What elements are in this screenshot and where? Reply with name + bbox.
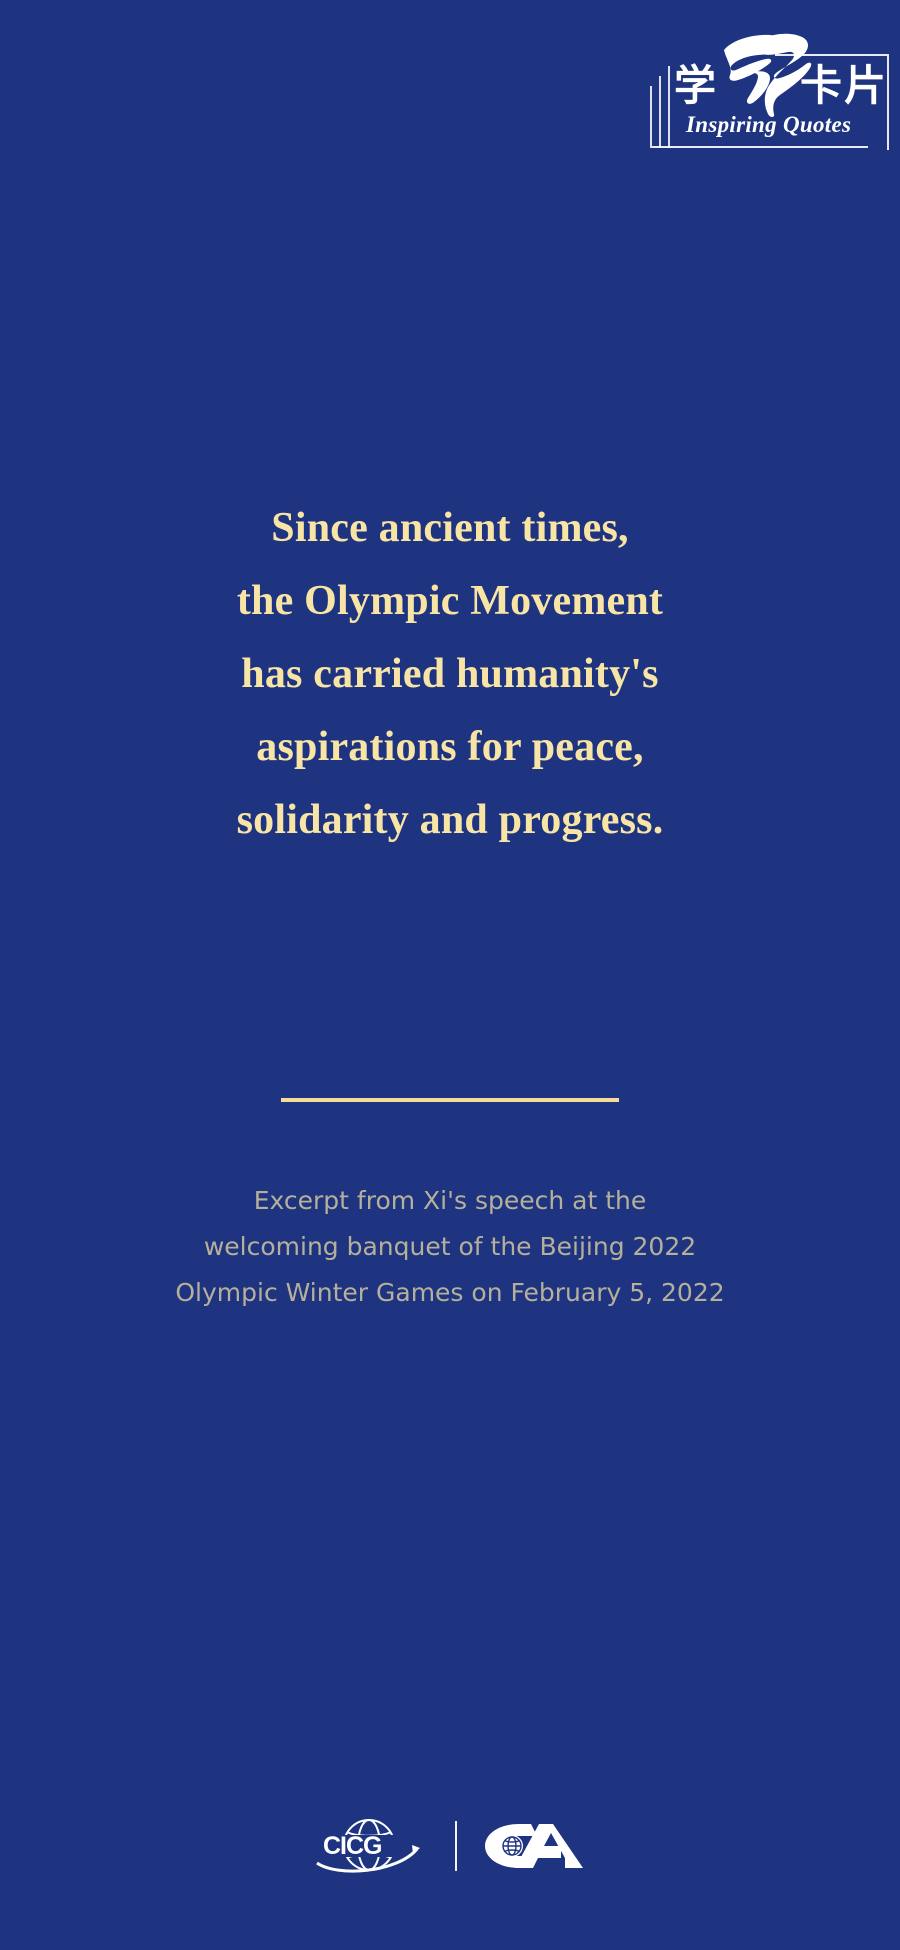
- attribution-line: welcoming banquet of the Beijing 2022: [0, 1224, 900, 1270]
- frame-line-3: [668, 66, 670, 148]
- quote-line: aspirations for peace,: [0, 711, 900, 784]
- attribution-line: Excerpt from Xi's speech at the: [0, 1178, 900, 1224]
- ca-logo-icon: [479, 1820, 587, 1872]
- quote-line: Since ancient times,: [0, 492, 900, 565]
- attribution-block: Excerpt from Xi's speech at the welcomin…: [0, 1178, 900, 1316]
- brand-english-tagline: Inspiring Quotes: [686, 112, 851, 138]
- brand-char-xue: 学: [674, 60, 717, 112]
- footer-logos: CICG: [0, 1814, 900, 1878]
- cicg-logo-icon: CICG: [313, 1815, 433, 1877]
- attribution-line: Olympic Winter Games on February 5, 2022: [0, 1270, 900, 1316]
- brand-char-xi-calligraphy-icon: [718, 28, 814, 118]
- quote-line: has carried humanity's: [0, 638, 900, 711]
- brand-chinese-title: 学 卡 片: [674, 60, 874, 112]
- brand-frame-bottom-rule-decoration: [652, 146, 868, 148]
- quote-line: solidarity and progress.: [0, 784, 900, 857]
- brand-logo: 学 卡 片 Inspiring Quotes: [650, 18, 890, 148]
- quote-divider: [281, 1098, 619, 1102]
- frame-line-2: [659, 76, 661, 148]
- footer-logo-separator: [455, 1821, 457, 1871]
- brand-char-pian: 片: [844, 60, 887, 112]
- frame-line-1: [650, 86, 652, 148]
- quote-block: Since ancient times, the Olympic Movemen…: [0, 492, 900, 857]
- quote-line: the Olympic Movement: [0, 565, 900, 638]
- svg-text:CICG: CICG: [323, 1832, 382, 1860]
